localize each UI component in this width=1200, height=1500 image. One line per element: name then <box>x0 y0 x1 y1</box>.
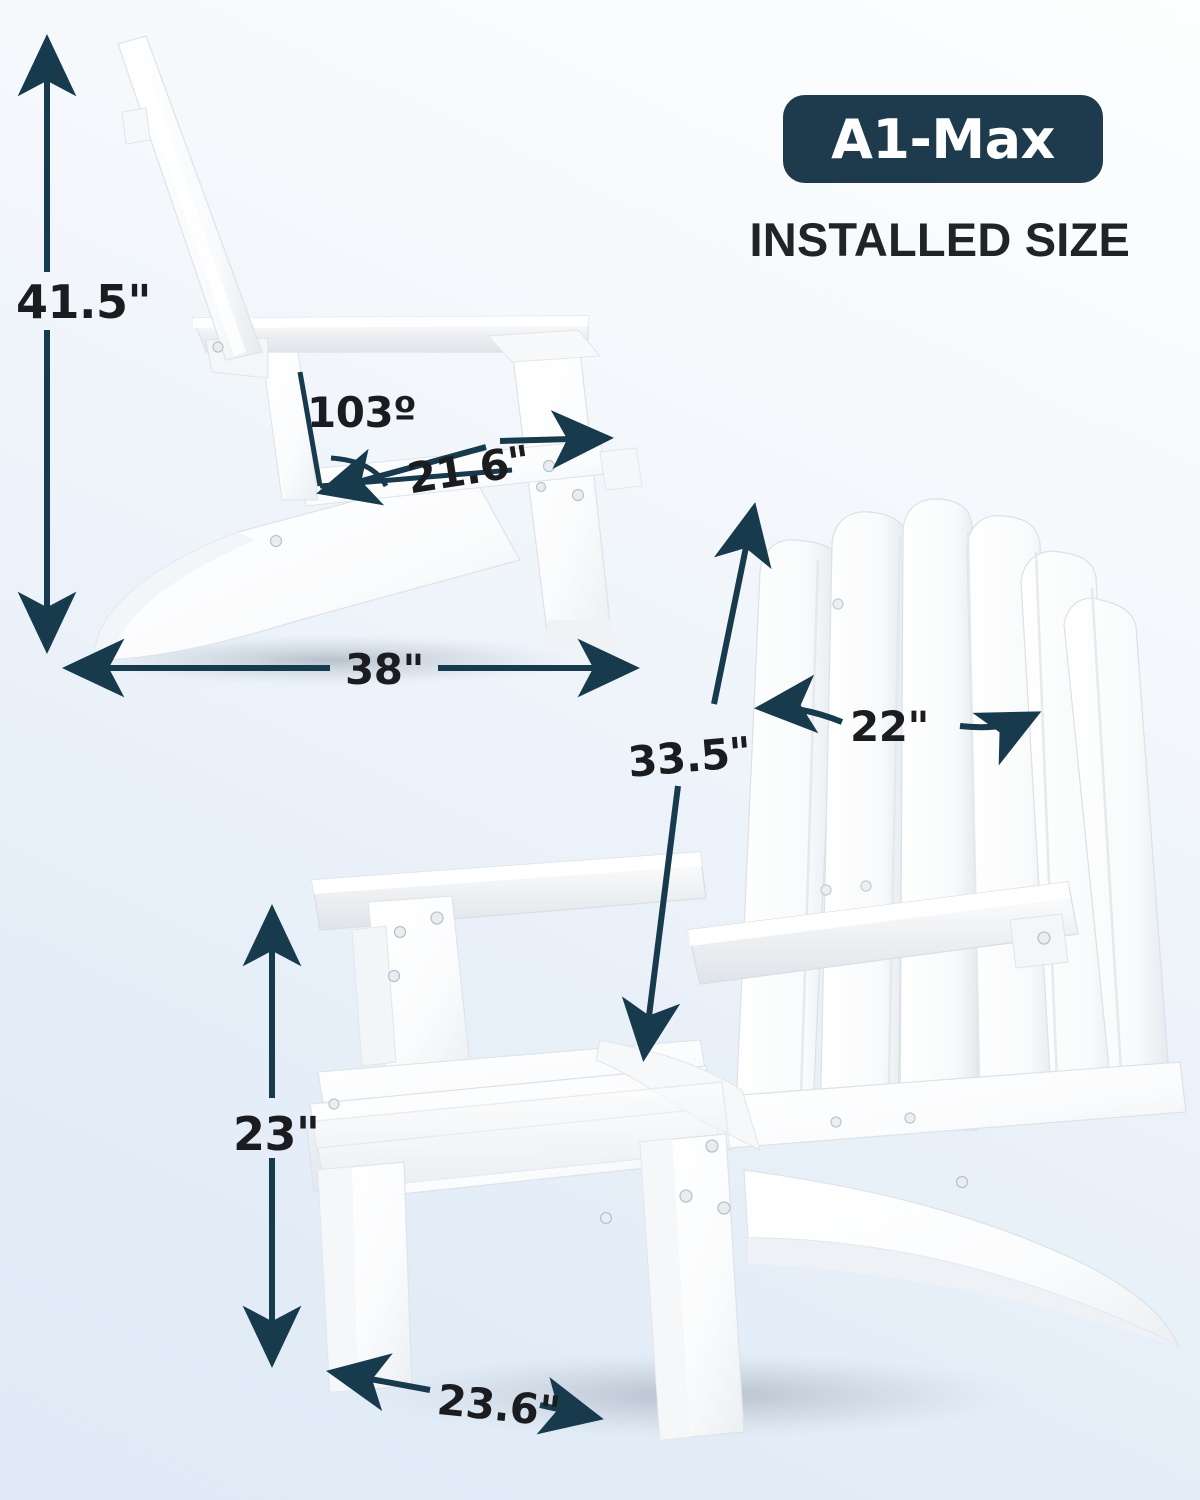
chair-seat <box>310 1040 760 1202</box>
dim-label-back-width: 22" <box>850 702 929 751</box>
dim-label-overall-height: 41.5" <box>16 275 151 329</box>
dim-line-22-right <box>960 714 1036 727</box>
model-badge: A1-Max <box>783 95 1103 183</box>
dim-line-23_6-left <box>332 1372 430 1390</box>
dim-label-seat-height: 23" <box>233 1107 319 1161</box>
dim-line-33_5-lower <box>644 786 678 1056</box>
diagram-canvas: A1-Max INSTALLED SIZE 41.5" 103º 21.6" 3… <box>0 0 1200 1500</box>
dim-label-seat-depth: 21.6" <box>404 436 533 504</box>
dim-label-overall-depth: 38" <box>345 645 424 694</box>
dim-line-22-left <box>760 708 842 722</box>
dim-label-seat-width: 23.6" <box>435 1375 562 1437</box>
dim-label-back-height: 33.5" <box>626 727 753 787</box>
dim-label-back-angle: 103º <box>307 388 416 437</box>
front-angle-chair <box>306 499 1186 1440</box>
dim-line-33_5-upper <box>714 508 754 704</box>
side-view-chair <box>80 36 642 686</box>
page-title: INSTALLED SIZE <box>660 212 1130 267</box>
chair-back-slats <box>735 499 1168 1130</box>
model-badge-label: A1-Max <box>831 108 1055 171</box>
